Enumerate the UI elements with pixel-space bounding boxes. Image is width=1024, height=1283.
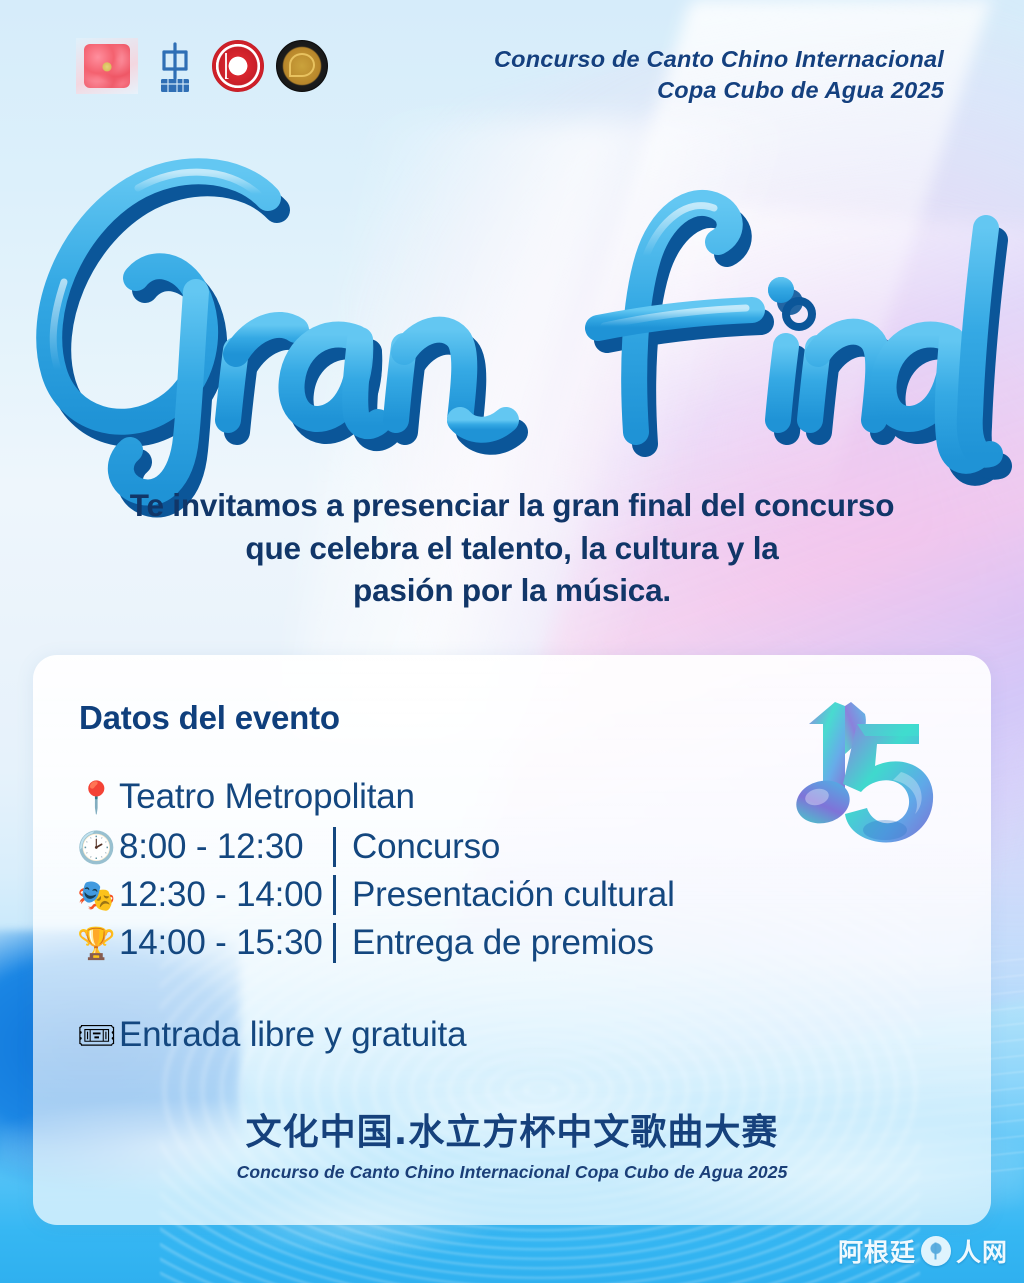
chinese-event-title: 文化中国.水立方杯中文歌曲大赛 [33,1111,991,1154]
event-header-line-1: Concurso de Canto Chino Internacional [494,44,944,75]
detail-row-schedule-1: 🕑 8:00 - 12:30 Concurso [77,823,917,871]
schedule-time-1: 8:00 - 12:30 [119,827,331,867]
peony-petals-icon [84,44,130,88]
theater-masks-icon: 🎭 [77,880,119,911]
schedule-time-3: 14:00 - 15:30 [119,923,331,963]
schedule-separator-2 [333,875,336,915]
main-title [0,132,1024,462]
detail-row-schedule-3: 🏆 14:00 - 15:30 Entrega de premios [77,919,917,967]
trophy-icon: 🏆 [77,928,119,959]
schedule-separator-3 [333,923,336,963]
schedule-time-2: 12:30 - 14:00 [119,875,331,915]
schedule-label-3: Entrega de premios [352,923,654,963]
venue-name: Teatro Metropolitan [119,777,415,817]
schedule-label-2: Presentación cultural [352,875,675,915]
site-watermark: 阿根廷 人网 [838,1233,1008,1269]
subtitle-line-2: que celebra el talento, la cultura y la [72,527,952,570]
card-heading: Datos del evento [79,699,340,737]
detail-row-schedule-2: 🎭 12:30 - 14:00 Presentación cultural [77,871,917,919]
schedule-separator-1 [333,827,336,867]
red-circular-seal-logo [212,40,264,92]
card-footer: 文化中国.水立方杯中文歌曲大赛 Concurso de Canto Chino … [33,1111,991,1183]
event-header-title: Concurso de Canto Chino Internacional Co… [494,44,944,105]
gran-final-script-title [0,132,1024,462]
admission-text: Entrada libre y gratuita [119,1015,466,1055]
subtitle-paragraph: Te invitamos a presenciar la gran final … [72,484,952,612]
location-pin-icon: 📍 [77,782,119,813]
event-details-card: Datos del evento [33,655,991,1225]
sponsor-logo-row [76,38,328,94]
spanish-event-subtitle: Concurso de Canto Chino Internacional Co… [33,1162,991,1183]
poster-root: Concurso de Canto Chino Internacional Co… [0,0,1024,1283]
peony-flower-logo [76,38,138,94]
schedule-label-1: Concurso [352,827,500,867]
event-details-list: 📍 Teatro Metropolitan 🕑 8:00 - 12:30 Con… [77,773,917,1059]
ticket-icon: 🎟 [77,1020,119,1051]
watermark-text-right: 人网 [956,1233,1008,1269]
zhong-watercube-logo [150,38,200,94]
event-header-line-2: Copa Cubo de Agua 2025 [494,75,944,106]
subtitle-line-1: Te invitamos a presenciar la gran final … [72,484,952,527]
watermark-text-left: 阿根廷 [838,1233,916,1269]
watermark-logo-icon [921,1236,951,1266]
detail-row-admission: 🎟 Entrada libre y gratuita [77,1011,917,1059]
frca-gold-emblem-logo [276,40,328,92]
clock-icon: 🕑 [77,832,119,863]
detail-row-venue: 📍 Teatro Metropolitan [77,773,917,821]
subtitle-line-3: pasión por la música. [72,569,952,612]
